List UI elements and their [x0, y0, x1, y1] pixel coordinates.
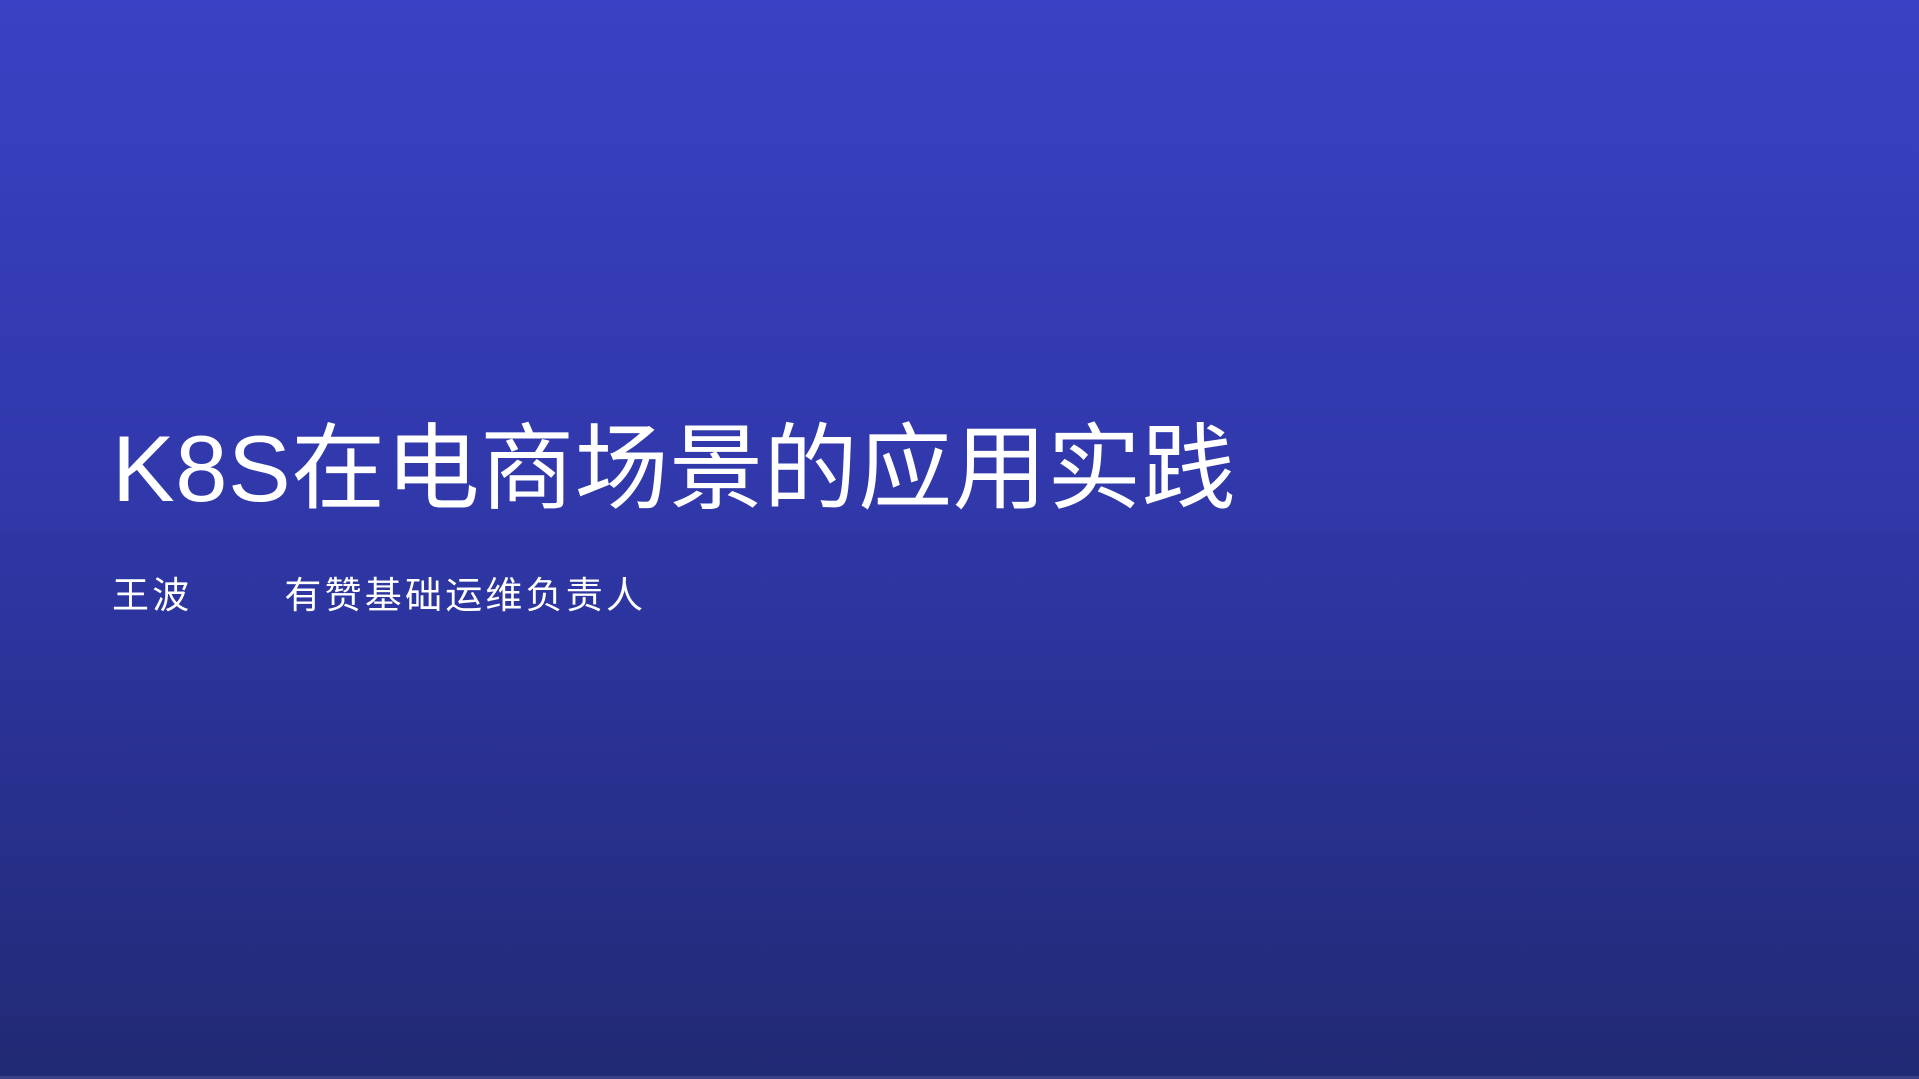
page-title: K8S在电商场景的应用实践 — [112, 418, 1612, 520]
presenter-name: 王波 — [112, 575, 192, 616]
presenter-role: 有赞基础运维负责人 — [284, 575, 646, 616]
presenter-line: 王波有赞基础运维负责人 — [112, 520, 1612, 617]
title-slide: K8S在电商场景的应用实践 王波有赞基础运维负责人 — [0, 0, 1919, 1079]
title-text-block: K8S在电商场景的应用实践 王波有赞基础运维负责人 — [112, 418, 1612, 616]
